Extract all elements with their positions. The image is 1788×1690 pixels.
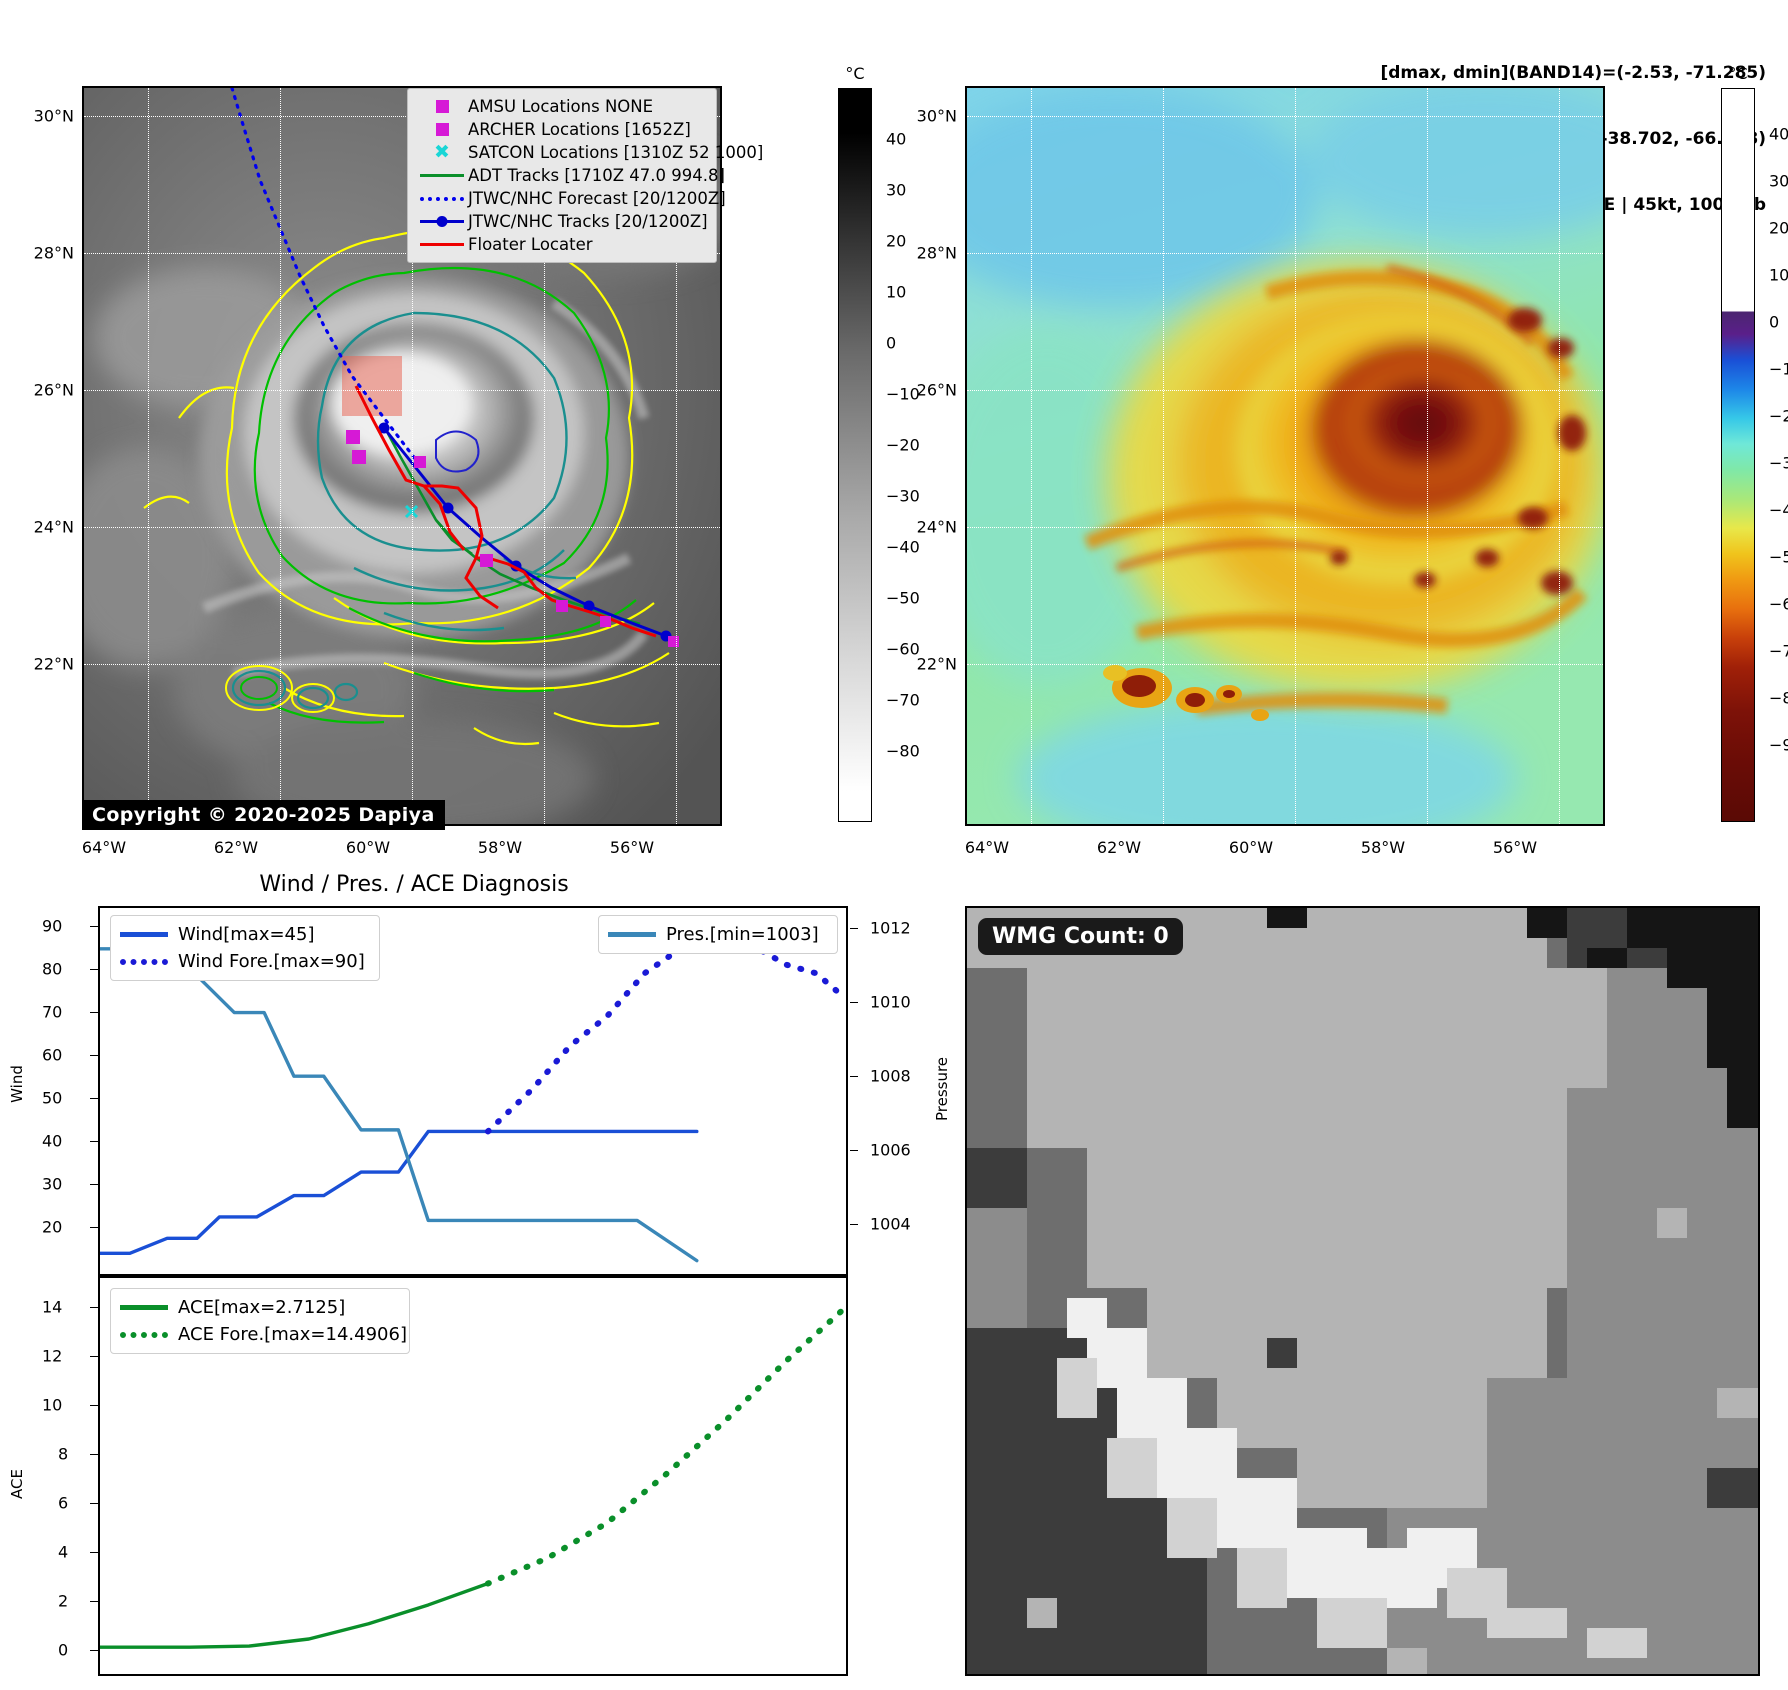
lon-tick-label: 62°W: [214, 838, 258, 857]
legend-item-adt-tracks[interactable]: ADT Tracks [1710Z 47.0 994.8]: [416, 164, 708, 187]
lat-tick-label: 26°N: [901, 381, 957, 400]
wind-tickmark: [90, 1012, 98, 1013]
ace-tick: 2: [58, 1592, 68, 1611]
ace-tickmark: [90, 1601, 98, 1602]
ace-tick: 6: [58, 1494, 68, 1513]
wind-tickmark: [90, 1184, 98, 1185]
map-right-gridline: [1559, 88, 1560, 824]
ace-legend: ACE[max=2.7125] ACE Fore.[max=14.4906]: [110, 1288, 410, 1354]
red-line-icon: [416, 243, 468, 246]
legend-label: JTWC/NHC Tracks [20/1200Z]: [468, 212, 708, 231]
wind-tick: 80: [42, 960, 62, 979]
wind-tickmark: [90, 1098, 98, 1099]
legend-item-satcon[interactable]: ✖ SATCON Locations [1310Z 52 1000]: [416, 141, 708, 164]
cbar-tick: −40: [886, 538, 920, 557]
legend-label: ADT Tracks [1710Z 47.0 994.8]: [468, 166, 725, 185]
map-right-gridline: [967, 390, 1603, 391]
colorbar-left-units: °C: [845, 64, 864, 83]
pressure-tick: 1012: [870, 919, 911, 938]
cbar-tick: −70: [1769, 642, 1788, 661]
map-right-gridline: [1295, 88, 1296, 824]
magenta-square-icon: [416, 100, 468, 113]
ace-tickmark: [90, 1454, 98, 1455]
cbar-tick: 30: [1769, 172, 1788, 191]
lat-tick-label: 30°N: [901, 107, 957, 126]
lat-tick-label: 26°N: [18, 381, 74, 400]
map-left-gridline: [84, 664, 720, 665]
wind-legend-label: Wind[max=45]: [178, 924, 315, 945]
wind-tickmark: [90, 1055, 98, 1056]
legend-item-jtwc-forecast[interactable]: JTWC/NHC Forecast [20/1200Z]: [416, 187, 708, 210]
ace-tick: 4: [58, 1543, 68, 1562]
green-line-icon: [416, 174, 468, 177]
ace-legend-item[interactable]: ACE[max=2.7125]: [120, 1294, 400, 1321]
lon-tick-label: 58°W: [1361, 838, 1405, 857]
cbar-tick: −40: [1769, 501, 1788, 520]
wind-tickmark: [90, 1141, 98, 1142]
wind-tick: 30: [42, 1175, 62, 1194]
cbar-tick: 20: [1769, 219, 1788, 238]
map-left-gridline: [84, 390, 720, 391]
ace-tickmark: [90, 1405, 98, 1406]
map-left-gridline: [148, 88, 149, 824]
lon-tick-label: 58°W: [478, 838, 522, 857]
ace-axis-label: ACE: [8, 1469, 26, 1499]
wind-tick: 60: [42, 1046, 62, 1065]
legend-item-archer[interactable]: ARCHER Locations [1652Z]: [416, 118, 708, 141]
cbar-tick: −70: [886, 691, 920, 710]
map-right-gridline: [1163, 88, 1164, 824]
map-right-gridline: [1031, 88, 1032, 824]
ace-forecast-legend-label: ACE Fore.[max=14.4906]: [178, 1324, 407, 1345]
cbar-tick: 0: [886, 334, 896, 353]
pressure-legend: Pres.[min=1003]: [598, 915, 838, 954]
page-root: GOES-19 BAND14-DIAS FLOATER Time: 2025/0…: [0, 0, 1788, 1690]
ace-tick: 0: [58, 1641, 68, 1660]
wind-legend-item[interactable]: Wind[max=45]: [120, 921, 370, 948]
pressure-tickmark: [850, 1002, 858, 1003]
map-right-gridline: [967, 253, 1603, 254]
cbar-tick: −50: [886, 589, 920, 608]
copyright-notice: Copyright © 2020-2025 Dapiya: [82, 800, 445, 830]
colorbar-left: [838, 88, 872, 822]
legend-label: Floater Locater: [468, 235, 593, 254]
pressure-axis-label: Pressure: [933, 1057, 951, 1121]
pressure-legend-item[interactable]: Pres.[min=1003]: [608, 921, 828, 948]
wmg-count-badge: WMG Count: 0: [978, 918, 1183, 955]
ace-tickmark: [90, 1650, 98, 1651]
wind-forecast-legend-item[interactable]: Wind Fore.[max=90]: [120, 948, 370, 975]
map-right-gridline: [967, 116, 1603, 117]
cyan-cross-icon: ✖: [416, 146, 468, 159]
cbar-tick: 40: [886, 130, 906, 149]
cbar-tick: −80: [1769, 689, 1788, 708]
cbar-tick: 40: [1769, 125, 1788, 144]
map-right-gridline: [1427, 88, 1428, 824]
blue-line-marker-icon: [416, 220, 468, 223]
map-legend: AMSU Locations NONE ARCHER Locations [16…: [407, 88, 717, 263]
map-right-gridline: [967, 664, 1603, 665]
pressure-tickmark: [850, 928, 858, 929]
cbar-tick: −30: [1769, 454, 1788, 473]
lat-tick-label: 22°N: [18, 655, 74, 674]
ace-tick: 8: [58, 1445, 68, 1464]
cbar-tick: 10: [886, 283, 906, 302]
cbar-tick: 30: [886, 181, 906, 200]
colorbar-right: [1721, 88, 1755, 822]
lon-tick-label: 56°W: [1493, 838, 1537, 857]
cbar-tick: −30: [886, 487, 920, 506]
legend-label: SATCON Locations [1310Z 52 1000]: [468, 143, 763, 162]
lon-tick-label: 56°W: [610, 838, 654, 857]
cbar-tick: −10: [1769, 360, 1788, 379]
wind-tick: 40: [42, 1132, 62, 1151]
map-panel-ir-color[interactable]: [965, 86, 1605, 826]
colorbar-right-units: °C: [1728, 64, 1747, 83]
wind-legend: Wind[max=45] Wind Fore.[max=90]: [110, 915, 380, 981]
wind-axis-label: Wind: [8, 1065, 26, 1103]
cbar-tick: 10: [1769, 266, 1788, 285]
ace-tickmark: [90, 1503, 98, 1504]
lon-tick-label: 62°W: [1097, 838, 1141, 857]
lon-tick-label: 64°W: [82, 838, 126, 857]
legend-label: ARCHER Locations [1652Z]: [468, 120, 691, 139]
ace-tickmark: [90, 1552, 98, 1553]
cbar-tick: −90: [1769, 736, 1788, 755]
wind-dotted-line-icon: [120, 959, 178, 965]
wind-tick: 90: [42, 917, 62, 936]
ace-tick: 14: [42, 1298, 62, 1317]
chart-section-title: Wind / Pres. / ACE Diagnosis: [259, 872, 568, 897]
wind-solid-line-icon: [120, 932, 178, 937]
lon-tick-label: 60°W: [346, 838, 390, 857]
lat-tick-label: 22°N: [901, 655, 957, 674]
legend-item-floater-locater[interactable]: Floater Locater: [416, 233, 708, 256]
pressure-tick: 1010: [870, 993, 911, 1012]
pressure-legend-label: Pres.[min=1003]: [666, 924, 819, 945]
map-left-gridline: [280, 88, 281, 824]
stats-band14: [dmax, dmin](BAND14)=(-2.53, -71.285): [1380, 62, 1766, 84]
legend-item-jtwc-tracks[interactable]: JTWC/NHC Tracks [20/1200Z]: [416, 210, 708, 233]
pressure-tickmark: [850, 1224, 858, 1225]
magenta-square-icon: [416, 123, 468, 136]
ace-tickmark: [90, 1356, 98, 1357]
lat-tick-label: 28°N: [18, 244, 74, 263]
ace-dotted-line-icon: [120, 1332, 178, 1338]
wind-tickmark: [90, 969, 98, 970]
cbar-tick: −50: [1769, 548, 1788, 567]
cbar-tick: −80: [886, 742, 920, 761]
lon-tick-label: 60°W: [1229, 838, 1273, 857]
map-right-gridline: [967, 527, 1603, 528]
wind-tick: 70: [42, 1003, 62, 1022]
ace-tickmark: [90, 1307, 98, 1308]
lon-tick-label: 64°W: [965, 838, 1009, 857]
pressure-tick: 1004: [870, 1215, 911, 1234]
legend-item-amsu[interactable]: AMSU Locations NONE: [416, 95, 708, 118]
wind-tickmark: [90, 926, 98, 927]
ace-tick: 10: [42, 1396, 62, 1415]
blue-dotted-line-icon: [416, 197, 468, 201]
wind-tickmark: [90, 1227, 98, 1228]
colorbar-right-ticks: 40 30 20 10 0 −10 −20 −30 −40 −50 −60 −7…: [1755, 88, 1788, 822]
wind-forecast-legend-label: Wind Fore.[max=90]: [178, 951, 365, 972]
lat-tick-label: 28°N: [901, 244, 957, 263]
ace-forecast-legend-item[interactable]: ACE Fore.[max=14.4906]: [120, 1321, 400, 1348]
cbar-tick: −60: [1769, 595, 1788, 614]
lat-tick-label: 24°N: [901, 518, 957, 537]
wmg-panel[interactable]: [965, 906, 1760, 1676]
pressure-tickmark: [850, 1076, 858, 1077]
cbar-tick: −20: [886, 436, 920, 455]
pressure-tickmark: [850, 1150, 858, 1151]
wind-tick: 20: [42, 1218, 62, 1237]
lat-tick-label: 30°N: [18, 107, 74, 126]
wind-tick: 50: [42, 1089, 62, 1108]
ace-tick: 12: [42, 1347, 62, 1366]
legend-label: AMSU Locations NONE: [468, 97, 653, 116]
pressure-tick: 1008: [870, 1067, 911, 1086]
cbar-tick: 0: [1769, 313, 1779, 332]
legend-label: JTWC/NHC Forecast [20/1200Z]: [468, 189, 726, 208]
lat-tick-label: 24°N: [18, 518, 74, 537]
pressure-tick: 1006: [870, 1141, 911, 1160]
cbar-tick: −20: [1769, 407, 1788, 426]
map-left-gridline: [84, 527, 720, 528]
ace-legend-label: ACE[max=2.7125]: [178, 1297, 345, 1318]
ace-solid-line-icon: [120, 1305, 178, 1310]
pressure-solid-line-icon: [608, 932, 666, 937]
